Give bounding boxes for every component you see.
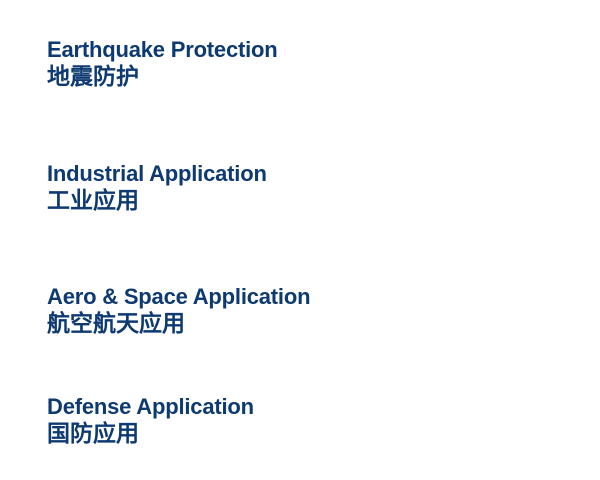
category-title-zh: 航空航天应用	[47, 310, 310, 338]
category-title-en: Earthquake Protection	[47, 37, 278, 63]
category-title-en: Industrial Application	[47, 161, 267, 187]
category-title-en: Aero & Space Application	[47, 284, 310, 310]
category-block-industrial-application: Industrial Application 工业应用	[47, 161, 267, 215]
category-title-zh: 工业应用	[47, 187, 267, 215]
category-title-zh: 国防应用	[47, 420, 254, 448]
category-block-earthquake-protection: Earthquake Protection 地震防护	[47, 37, 278, 91]
category-block-aero-space-application: Aero & Space Application 航空航天应用	[47, 284, 310, 338]
page-root: Earthquake Protection 地震防护 Industrial Ap…	[0, 0, 600, 480]
category-title-zh: 地震防护	[47, 63, 278, 91]
category-title-en: Defense Application	[47, 394, 254, 420]
application-category-list: Earthquake Protection 地震防护 Industrial Ap…	[0, 0, 600, 480]
category-block-defense-application: Defense Application 国防应用	[47, 394, 254, 448]
